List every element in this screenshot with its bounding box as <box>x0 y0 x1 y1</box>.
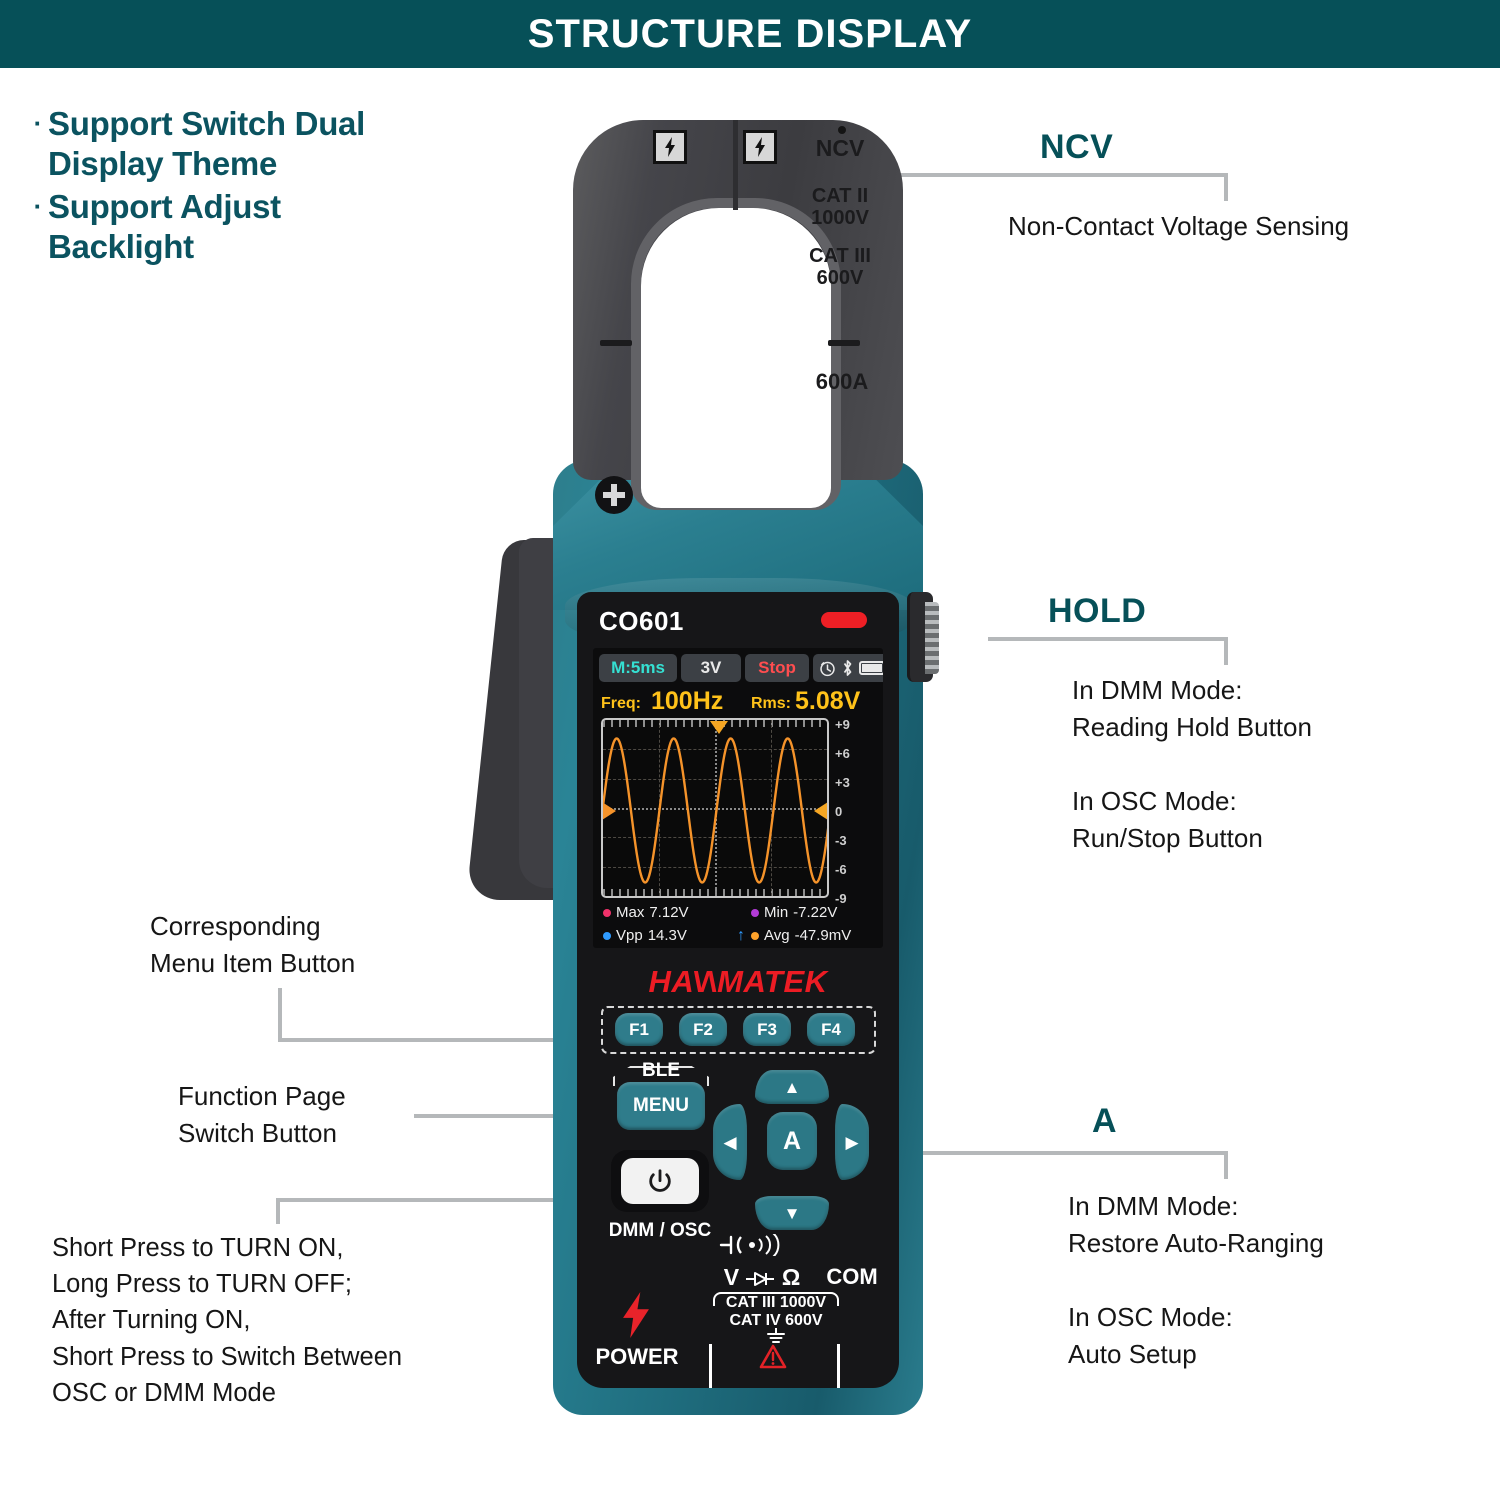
power-bolt-icon <box>609 1292 663 1348</box>
timebase-chip[interactable]: M:5ms <box>599 654 677 682</box>
menu-button[interactable]: MENU <box>617 1082 705 1130</box>
trigger-level-marker[interactable] <box>814 802 828 820</box>
callout-hold: HOLD <box>1048 592 1146 631</box>
callout-ncv: NCV <box>1040 128 1113 167</box>
leader-line-power-drop <box>276 1198 280 1224</box>
stat-vpp-value: 14.3V <box>648 927 687 944</box>
cat-rating-label: CAT III 1000V CAT IV 600V <box>717 1294 835 1330</box>
f1-button[interactable]: F1 <box>615 1013 663 1046</box>
lcd-screen[interactable]: M:5ms 3V Stop Freq: 1 <box>593 648 883 948</box>
feature-item-1: · Support Adjust Backlight <box>28 187 498 266</box>
stat-avg-name: Avg <box>764 927 790 944</box>
run-state-chip[interactable]: Stop <box>745 654 809 682</box>
current-rating-label: 600A <box>803 370 881 394</box>
stat-min-name: Min <box>764 904 788 921</box>
dpad-right-button[interactable]: ▶ <box>835 1104 869 1180</box>
continuity-diode-icon <box>703 1234 821 1262</box>
callout-hold-body: In DMM Mode: Reading Hold Button In OSC … <box>1072 672 1492 857</box>
y-tick-label: 0 <box>835 804 873 819</box>
jaw-dash-left <box>600 340 632 346</box>
clock-icon <box>819 660 836 677</box>
leader-line-menuitem-drop <box>278 988 282 1040</box>
clamp-meter-illustration: NCV CAT II 1000V CAT III 600V 600A CO601… <box>455 108 975 1418</box>
clamp-jaw-split <box>733 120 738 210</box>
triangle-left-icon: ◀ <box>723 1134 736 1151</box>
callout-auto-body: In DMM Mode: Restore Auto-Ranging In OSC… <box>1068 1188 1488 1373</box>
y-tick-label: +6 <box>835 746 873 761</box>
voltdiv-chip[interactable]: 3V <box>681 654 741 682</box>
battery-icon <box>859 661 883 675</box>
v-label: V <box>724 1264 739 1290</box>
bullet-icon: · <box>28 104 48 142</box>
y-tick-label: -3 <box>835 833 873 848</box>
brand-pre: HA <box>648 964 694 999</box>
terminal-divider <box>709 1344 712 1388</box>
feature-item-0: · Support Switch Dual Display Theme <box>28 104 498 183</box>
voltage-resistance-terminal-label: V Ω <box>703 1264 821 1291</box>
screw-icon <box>595 476 633 514</box>
ohm-label: Ω <box>782 1264 800 1290</box>
power-terminal-label: POWER <box>591 1344 683 1370</box>
lightning-warning-icon <box>743 130 777 164</box>
feature-label: Support Adjust Backlight <box>48 187 281 266</box>
bolt-glyph <box>664 137 676 157</box>
cat3-rating-label: CAT III 600V <box>795 246 885 289</box>
feature-list: · Support Switch Dual Display Theme · Su… <box>28 104 498 270</box>
triangle-down-icon: ▼ <box>784 1205 801 1222</box>
auto-button[interactable]: A <box>767 1112 817 1170</box>
y-tick-label: +9 <box>835 717 873 732</box>
bullet-icon: · <box>28 187 48 225</box>
stat-color-dot <box>603 909 611 917</box>
stat-vpp: Vpp 14.3V <box>603 927 687 944</box>
body-notch <box>673 454 805 500</box>
lcd-status-bar: M:5ms 3V Stop <box>599 654 877 682</box>
leader-line-ncv-drop <box>1224 173 1228 201</box>
lightning-warning-icon <box>653 130 687 164</box>
ncv-indicator-dot <box>838 126 846 134</box>
brand-logo: HANMATEK <box>577 964 899 1000</box>
capacitor-diode-buzzer-icon <box>719 1234 805 1256</box>
voltage-axis: +9 +6 +3 0 -3 -6 -9 <box>835 714 875 904</box>
rms-value: 5.08V <box>795 687 860 716</box>
freq-label: Freq: <box>601 695 641 713</box>
callout-auto-title: A <box>1092 1102 1117 1141</box>
callout-ncv-title: NCV <box>1040 128 1113 167</box>
f4-button[interactable]: F4 <box>807 1013 855 1046</box>
callout-auto-body-wrap: In DMM Mode: Restore Auto-Ranging In OSC… <box>1068 1188 1488 1373</box>
stat-color-dot <box>751 909 759 917</box>
jaw-dash-right <box>828 340 860 346</box>
y-tick-label: +3 <box>835 775 873 790</box>
callout-hold-body-wrap: In DMM Mode: Reading Hold Button In OSC … <box>1072 672 1492 857</box>
dpad-up-button[interactable]: ▲ <box>755 1070 829 1104</box>
rms-label: Rms: <box>751 695 791 713</box>
leader-line-auto-drop <box>1224 1151 1228 1179</box>
cat2-rating-label: CAT II 1000V <box>795 186 885 229</box>
waveform-trace <box>603 720 829 898</box>
page-header: STRUCTURE DISPLAY <box>0 0 1500 68</box>
triangle-up-icon: ▲ <box>784 1079 801 1096</box>
brand-flipped-n: N <box>694 964 717 1000</box>
leader-line-hold <box>988 637 1228 641</box>
y-tick-label: -6 <box>835 862 873 877</box>
stat-avg: Avg -47.9mV <box>751 927 851 944</box>
earth-ground-icon <box>765 1328 787 1344</box>
channel-ground-marker[interactable] <box>602 802 616 820</box>
waveform-graticule[interactable] <box>601 718 829 898</box>
dpad-left-button[interactable]: ◀ <box>713 1104 747 1180</box>
stat-min-value: -7.22V <box>793 904 837 921</box>
stat-color-dot <box>603 932 611 940</box>
meter-faceplate: CO601 M:5ms 3V Stop <box>577 592 899 1388</box>
stat-avg-value: -47.9mV <box>795 927 852 944</box>
stat-max: Max 7.12V <box>603 904 689 921</box>
leader-line-hold-drop <box>1224 637 1228 665</box>
bolt-glyph <box>754 137 766 157</box>
hold-button-ridges[interactable] <box>925 602 939 674</box>
warning-triangle-icon <box>759 1344 787 1377</box>
feature-label: Support Switch Dual Display Theme <box>48 104 365 183</box>
callout-ncv-body: Non-Contact Voltage Sensing <box>1008 208 1478 245</box>
callout-ncv-body-wrap: Non-Contact Voltage Sensing <box>1008 208 1478 245</box>
trigger-position-marker[interactable] <box>710 721 728 734</box>
diode-icon <box>745 1271 775 1287</box>
scroll-up-icon[interactable]: ↑ <box>737 927 745 945</box>
callout-hold-title: HOLD <box>1048 592 1146 631</box>
terminal-divider <box>837 1344 840 1388</box>
brand-post: MATEK <box>717 964 827 999</box>
lightning-bolt-icon <box>621 1292 651 1338</box>
bluetooth-icon <box>841 659 854 677</box>
triangle-right-icon: ▶ <box>845 1134 858 1151</box>
status-led <box>821 612 867 628</box>
com-terminal-label: COM <box>809 1264 895 1290</box>
status-icon-group <box>813 654 883 682</box>
power-icon <box>647 1168 673 1194</box>
f3-button[interactable]: F3 <box>743 1013 791 1046</box>
callout-auto: A <box>1092 1102 1117 1141</box>
dpad-down-button[interactable]: ▼ <box>755 1196 829 1230</box>
stat-color-dot <box>751 932 759 940</box>
model-label: CO601 <box>599 606 684 637</box>
lcd-measurement-header: Freq: 100Hz Rms: 5.08V <box>599 686 877 716</box>
page-title: STRUCTURE DISPLAY <box>528 12 972 57</box>
ble-label: BLE <box>619 1060 703 1082</box>
stat-max-value: 7.12V <box>649 904 688 921</box>
freq-value: 100Hz <box>651 687 723 716</box>
ncv-jaw-label: NCV <box>807 136 873 161</box>
measurement-stats: Max 7.12V Min -7.22V Vpp 14.3V ↑ Avg <box>601 904 879 948</box>
stat-min: Min -7.22V <box>751 904 837 921</box>
power-button[interactable] <box>621 1158 699 1204</box>
stat-vpp-name: Vpp <box>616 927 643 944</box>
warning-icon <box>759 1344 787 1370</box>
f2-button[interactable]: F2 <box>679 1013 727 1046</box>
stat-max-name: Max <box>616 904 644 921</box>
